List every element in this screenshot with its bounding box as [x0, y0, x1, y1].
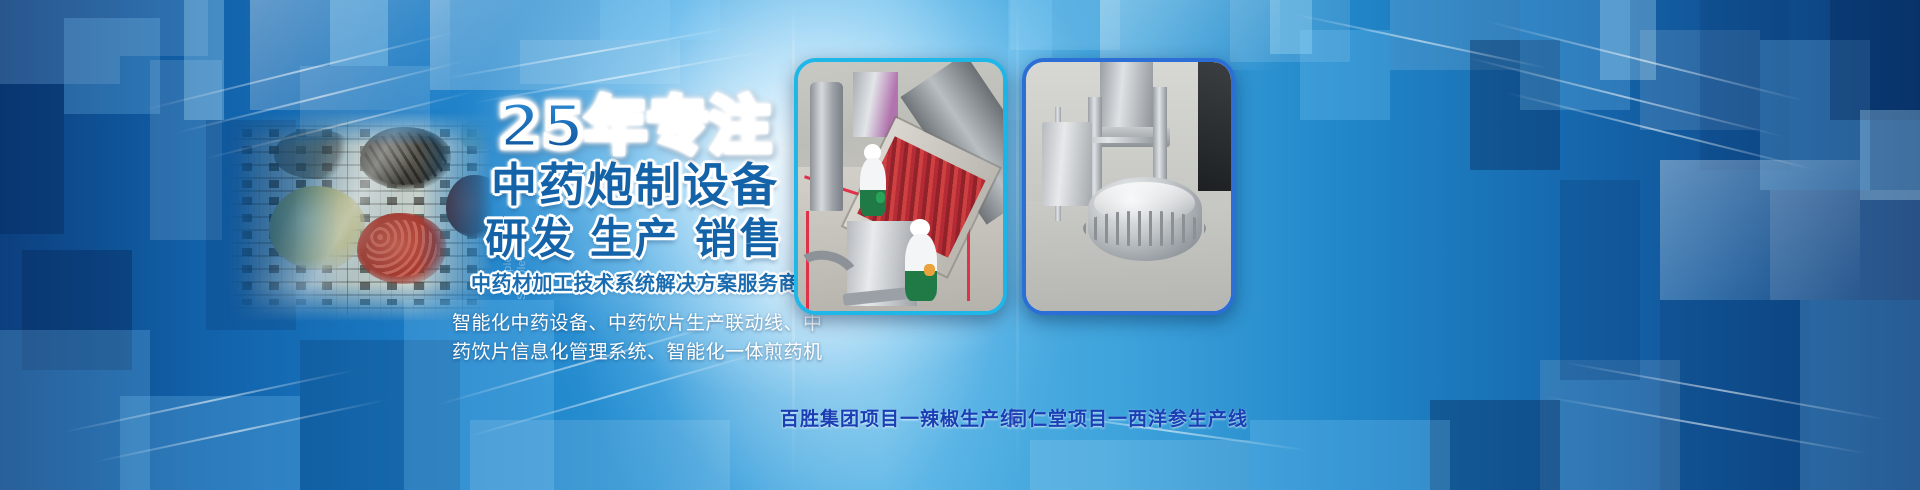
headline-line-1-fill: 25年专注 — [499, 91, 772, 162]
control-cabinet — [1042, 122, 1091, 207]
description-line-1: 智能化中药设备、中药饮片生产联动线、中 — [452, 310, 818, 339]
american-ginseng-production-line-photo[interactable] — [1022, 58, 1235, 315]
headline-line-2: 中药炮制设备 — [452, 161, 818, 211]
description-paragraph: 智能化中药设备、中药饮片生产联动线、中 药饮片信息化管理系统、智能化一体煎药机 — [452, 310, 818, 367]
worker-lower — [905, 226, 938, 301]
headline-text-block: 25年专注 25年专注 中药炮制设备 研发 生产 销售 中药材加工技术系统解决方… — [452, 96, 818, 367]
chili-production-line-photo[interactable] — [794, 58, 1007, 315]
headline-subtitle: 中药材加工技术系统解决方案服务商 — [452, 267, 818, 296]
worker-upper — [860, 152, 887, 217]
headline-line-3: 研发 生产 销售 — [452, 216, 818, 261]
overhead-beam — [1100, 62, 1153, 137]
photo-2-caption: 同仁堂项目一西洋参生产线 — [988, 404, 1268, 431]
description-line-2: 药饮片信息化管理系统、智能化一体煎药机 — [452, 339, 818, 368]
headline-line-1: 25年专注 25年专注 — [499, 96, 772, 157]
vessel-bolts — [1083, 211, 1206, 246]
vertical-tank — [810, 82, 843, 211]
promo-banner: Sample Text Sample Text 25年专注 25年专注 中药炮制… — [0, 0, 1920, 490]
dark-corner — [1198, 62, 1231, 191]
